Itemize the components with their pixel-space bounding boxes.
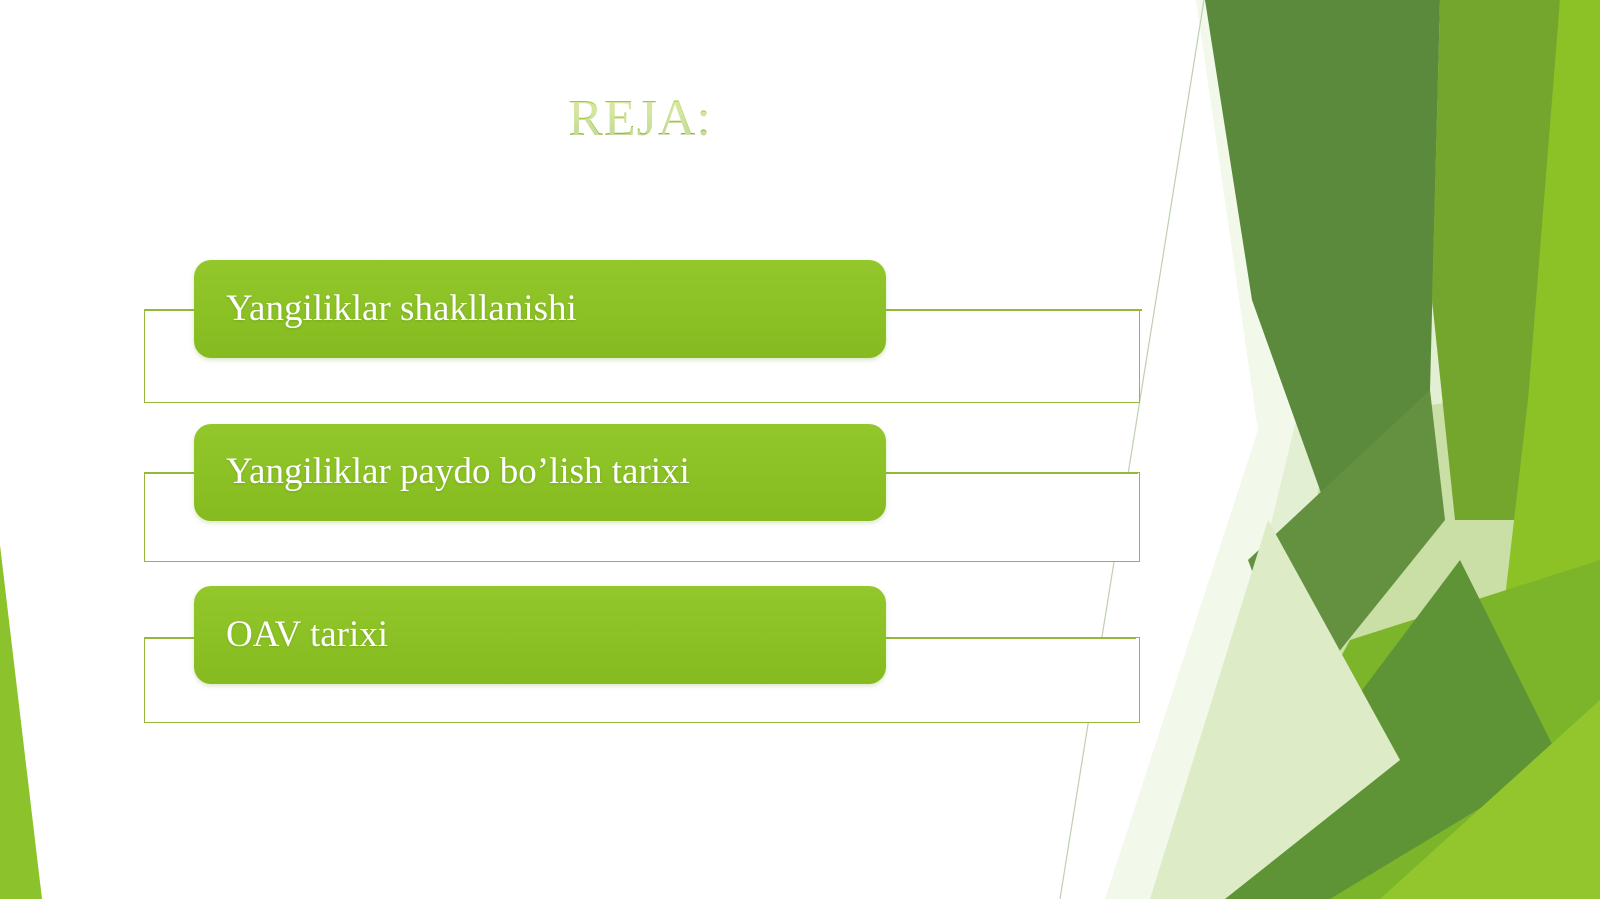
right-lower-dark-diagonal	[1205, 560, 1560, 899]
agenda-item-1-pill[interactable]: Yangiliklar shakllanishi	[194, 260, 886, 358]
agenda-list: Yangiliklar shakllanishi Yangiliklar pay…	[0, 0, 1200, 899]
right-mid-green-panel	[1432, 0, 1560, 520]
agenda-item-1-label: Yangiliklar shakllanishi	[226, 289, 577, 330]
agenda-item-3-label: OAV tarixi	[226, 615, 388, 656]
agenda-item-1-connector-right	[884, 309, 1142, 311]
agenda-item-3-connector-left	[144, 637, 196, 639]
agenda-item-3-connector-right	[884, 637, 1136, 639]
presentation-slide: REJA: Yangiliklar shakllanishi Yangilikl…	[0, 0, 1600, 899]
agenda-item-1-connector-left	[144, 309, 196, 311]
right-dark-olive-lower	[1248, 390, 1445, 700]
right-dark-olive-panel	[1205, 0, 1440, 560]
right-pale-green-panel	[1250, 380, 1600, 899]
agenda-item-3-pill[interactable]: OAV tarixi	[194, 586, 886, 684]
agenda-item-2-label: Yangiliklar paydo bo’lish tarixi	[226, 452, 690, 493]
agenda-item-2-connector-left	[144, 472, 196, 474]
right-bottom-bright-wedge	[1380, 700, 1600, 899]
right-lower-green-diagonal	[1210, 560, 1600, 899]
agenda-item-2-pill[interactable]: Yangiliklar paydo bo’lish tarixi	[194, 424, 886, 521]
agenda-item-2-connector-right	[884, 472, 1138, 474]
right-bright-green-panel	[1470, 0, 1600, 899]
